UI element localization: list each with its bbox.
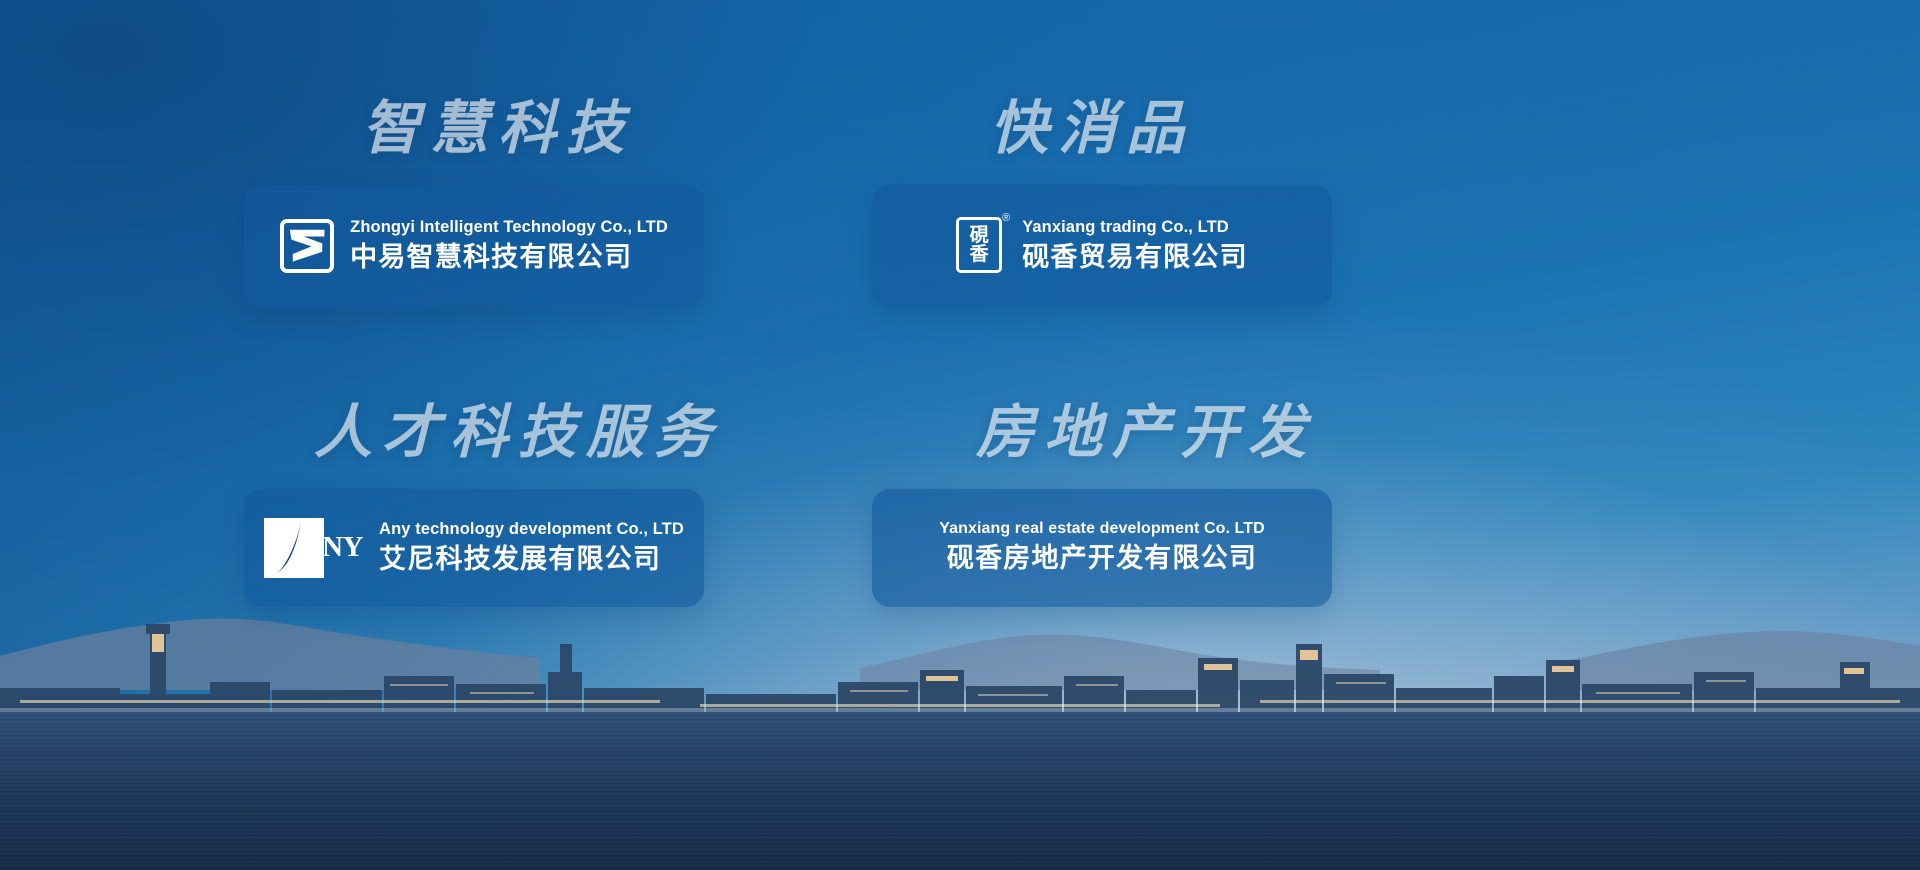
yanxiang-seal-logo-icon: 硯 香 ® xyxy=(956,217,1006,275)
sector-title-fmcg: 快消品 xyxy=(880,96,1332,163)
company-names-any-technology: Any technology development Co., LTD 艾尼科技… xyxy=(379,519,684,576)
company-names-yanxiang-trading: Yanxiang trading Co., LTD 砚香贸易有限公司 xyxy=(1022,217,1248,274)
sector-title-real-estate: 房地产开发 xyxy=(880,400,1332,467)
any-logo-text-ny: NY xyxy=(322,531,363,564)
company-name-en-any-technology: Any technology development Co., LTD xyxy=(379,519,684,540)
company-card-any-technology[interactable]: NY Any technology development Co., LTD 艾… xyxy=(244,489,704,607)
company-names-zhongyi: Zhongyi Intelligent Technology Co., LTD … xyxy=(350,217,668,274)
company-name-cn-yanxiang-trading: 砚香贸易有限公司 xyxy=(1022,240,1248,275)
company-card-yanxiang-real-estate[interactable]: Yanxiang real estate development Co. LTD… xyxy=(872,489,1332,607)
seal-char-bottom: 香 xyxy=(970,245,989,264)
company-name-en-zhongyi: Zhongyi Intelligent Technology Co., LTD xyxy=(350,217,668,238)
company-names-yanxiang-real-estate: Yanxiang real estate development Co. LTD… xyxy=(939,519,1265,576)
sector-grid: 智慧科技 Zhongyi Intelligent Technology Co.,… xyxy=(0,0,1920,870)
company-name-en-yanxiang-real-estate: Yanxiang real estate development Co. LTD xyxy=(939,519,1265,539)
sector-title-smart-technology: 智慧科技 xyxy=(252,96,704,163)
company-card-yanxiang-trading[interactable]: 硯 香 ® Yanxiang trading Co., LTD 砚香贸易有限公司 xyxy=(872,185,1332,307)
company-name-cn-yanxiang-real-estate: 砚香房地产开发有限公司 xyxy=(947,541,1257,576)
sector-talent-services: 人才科技服务 NY xyxy=(244,400,722,607)
any-peak-logo-icon: NY xyxy=(264,518,363,578)
sector-real-estate: 房地产开发 Yanxiang real estate development C… xyxy=(872,400,1332,607)
seal-char-top: 硯 xyxy=(970,226,989,245)
registered-trademark-icon: ® xyxy=(1002,213,1010,224)
sector-smart-technology: 智慧科技 Zhongyi Intelligent Technology Co.,… xyxy=(244,96,704,307)
sector-title-talent-services: 人才科技服务 xyxy=(252,400,722,467)
any-mountain-glyph xyxy=(268,520,322,578)
sector-fmcg: 快消品 硯 香 ® Yanxiang trading Co., LTD 砚香贸易… xyxy=(872,96,1332,307)
company-name-en-yanxiang-trading: Yanxiang trading Co., LTD xyxy=(1022,217,1248,238)
company-name-cn-zhongyi: 中易智慧科技有限公司 xyxy=(350,240,668,275)
zhongyi-z-bolt-logo-icon xyxy=(280,219,334,273)
company-card-zhongyi[interactable]: Zhongyi Intelligent Technology Co., LTD … xyxy=(244,185,704,307)
company-name-cn-any-technology: 艾尼科技发展有限公司 xyxy=(379,542,684,577)
